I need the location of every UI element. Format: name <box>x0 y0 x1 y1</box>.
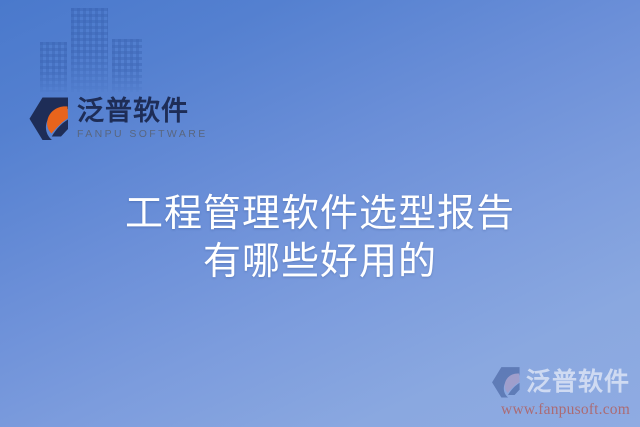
headline-line-2: 有哪些好用的 <box>0 238 640 286</box>
watermark-logo-row: 泛普软件 <box>491 366 630 399</box>
watermark-brand-cn: 泛普软件 <box>526 370 630 395</box>
brand-logo-text: 泛普软件 FANPU SOFTWARE <box>77 98 208 140</box>
building-skyline-graphic <box>38 0 148 92</box>
brand-logo-lockup: 泛普软件 FANPU SOFTWARE <box>28 96 208 142</box>
skyline-building-left <box>40 42 67 92</box>
fanpu-hexagon-logo-watermark-icon <box>491 366 521 399</box>
watermark: 泛普软件 www.fanpusoft.com <box>491 366 630 419</box>
headline-line-1: 工程管理软件选型报告 <box>0 190 640 238</box>
promo-banner: 泛普软件 FANPU SOFTWARE 工程管理软件选型报告 有哪些好用的 泛普… <box>0 0 640 427</box>
brand-name-cn: 泛普软件 <box>77 98 208 125</box>
fanpu-hexagon-logo-icon <box>28 96 70 142</box>
brand-name-en: FANPU SOFTWARE <box>77 129 208 140</box>
headline-title: 工程管理软件选型报告 有哪些好用的 <box>0 190 640 286</box>
skyline-building-right <box>112 39 142 92</box>
watermark-url: www.fanpusoft.com <box>491 401 630 419</box>
skyline-building-center <box>71 8 108 92</box>
